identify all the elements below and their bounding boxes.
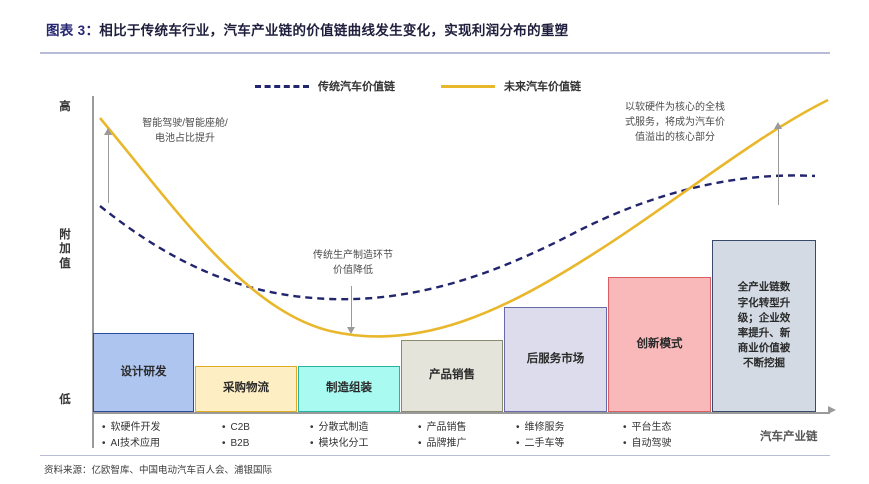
list-item: •分散式制造 (310, 420, 369, 436)
source-note: 资料来源：亿欧智库、中国电动汽车百人会、浦银国际 (44, 462, 272, 476)
list-item: •产品销售 (418, 420, 467, 436)
bullets-procurement: •C2B •B2B (222, 420, 250, 451)
stage-label-manufacturing: 制造组装 (326, 381, 372, 397)
bullet-dot-icon: • (102, 436, 106, 452)
figure-title-text: 相比于传统车行业，汽车产业链的价值链曲线发生变化，实现利润分布的重塑 (99, 23, 568, 38)
bullet-text: 二手车等 (525, 436, 565, 452)
bullet-text: 维修服务 (525, 420, 565, 436)
stage-box-innovation[interactable]: 创新模式 (608, 277, 711, 412)
bullet-dot-icon: • (418, 420, 422, 436)
bullet-text: AI技术应用 (111, 436, 160, 452)
bullets-sales: •产品销售 •品牌推广 (418, 420, 467, 451)
bullet-text: B2B (231, 436, 250, 452)
bullet-text: 模块化分工 (319, 436, 369, 452)
plot-area: 高 附 加 值 低 汽车产业链 智能驾驶/智能座舱/ 电池占比提升 传统生产制造… (0, 60, 869, 455)
stage-label-digitalization: 全产业链数 字化转型升 级；企业效 率提升、新 商业价值被 不断挖掘 (738, 280, 791, 371)
list-item: •自动驾驶 (623, 436, 672, 452)
bullet-dot-icon: • (623, 436, 627, 452)
bullet-dot-icon: • (102, 420, 106, 436)
list-item: •平台生态 (623, 420, 672, 436)
arrow-shaft (351, 286, 352, 328)
stage-label-sales: 产品销售 (429, 368, 475, 384)
bullet-dot-icon: • (623, 420, 627, 436)
bullets-innovation: •平台生态 •自动驾驶 (623, 420, 672, 451)
bullet-text: 软硬件开发 (111, 420, 161, 436)
bullet-dot-icon: • (516, 420, 520, 436)
bullet-dot-icon: • (310, 420, 314, 436)
arrow-head-icon (347, 327, 355, 334)
bullets-manufacturing: •分散式制造 •模块化分工 (310, 420, 369, 451)
list-item: •C2B (222, 420, 250, 436)
bullets-aftermarket: •维修服务 •二手车等 (516, 420, 565, 451)
bullets-design: •软硬件开发 •AI技术应用 (102, 420, 161, 451)
figure-number: 图表 3： (46, 23, 99, 38)
list-item: •模块化分工 (310, 436, 369, 452)
arrow-shaft (778, 127, 779, 205)
bullet-dot-icon: • (222, 436, 226, 452)
chart-figure: 图表 3：相比于传统车行业，汽车产业链的价值链曲线发生变化，实现利润分布的重塑 … (0, 0, 869, 484)
stage-label-procurement: 采购物流 (223, 381, 269, 397)
stage-box-sales[interactable]: 产品销售 (401, 340, 503, 412)
page-title: 图表 3：相比于传统车行业，汽车产业链的价值链曲线发生变化，实现利润分布的重塑 (46, 19, 568, 39)
bullet-text: 平台生态 (632, 420, 672, 436)
header-divider (40, 52, 830, 54)
stage-box-aftermarket[interactable]: 后服务市场 (504, 307, 607, 412)
stage-label-aftermarket: 后服务市场 (527, 352, 585, 368)
bullet-text: 品牌推广 (427, 436, 467, 452)
bullet-dot-icon: • (516, 436, 520, 452)
stage-box-procurement[interactable]: 采购物流 (195, 366, 297, 412)
list-item: •品牌推广 (418, 436, 467, 452)
annotation-middle: 传统生产制造环节 价值降低 (290, 248, 416, 278)
list-item: •B2B (222, 436, 250, 452)
stage-box-design[interactable]: 设计研发 (93, 333, 194, 412)
arrow-shaft (108, 133, 109, 203)
bullet-text: 自动驾驶 (632, 436, 672, 452)
list-item: •软硬件开发 (102, 420, 161, 436)
list-item: •二手车等 (516, 436, 565, 452)
annotation-left: 智能驾驶/智能座舱/ 电池占比提升 (104, 116, 266, 146)
stage-box-manufacturing[interactable]: 制造组装 (298, 366, 400, 412)
footer-divider (40, 455, 830, 456)
annotation-right: 以软硬件为核心的全栈 式服务，将成为汽车价 值溢出的核心部分 (600, 100, 750, 145)
stage-label-design: 设计研发 (121, 365, 167, 381)
bullet-dot-icon: • (418, 436, 422, 452)
bullet-dot-icon: • (222, 420, 226, 436)
bullet-dot-icon: • (310, 436, 314, 452)
bullet-text: 分散式制造 (319, 420, 369, 436)
bullet-text: 产品销售 (427, 420, 467, 436)
stage-label-innovation: 创新模式 (637, 337, 683, 353)
stage-box-digitalization[interactable]: 全产业链数 字化转型升 级；企业效 率提升、新 商业价值被 不断挖掘 (712, 240, 816, 412)
bullet-text: C2B (231, 420, 250, 436)
list-item: •维修服务 (516, 420, 565, 436)
list-item: •AI技术应用 (102, 436, 161, 452)
